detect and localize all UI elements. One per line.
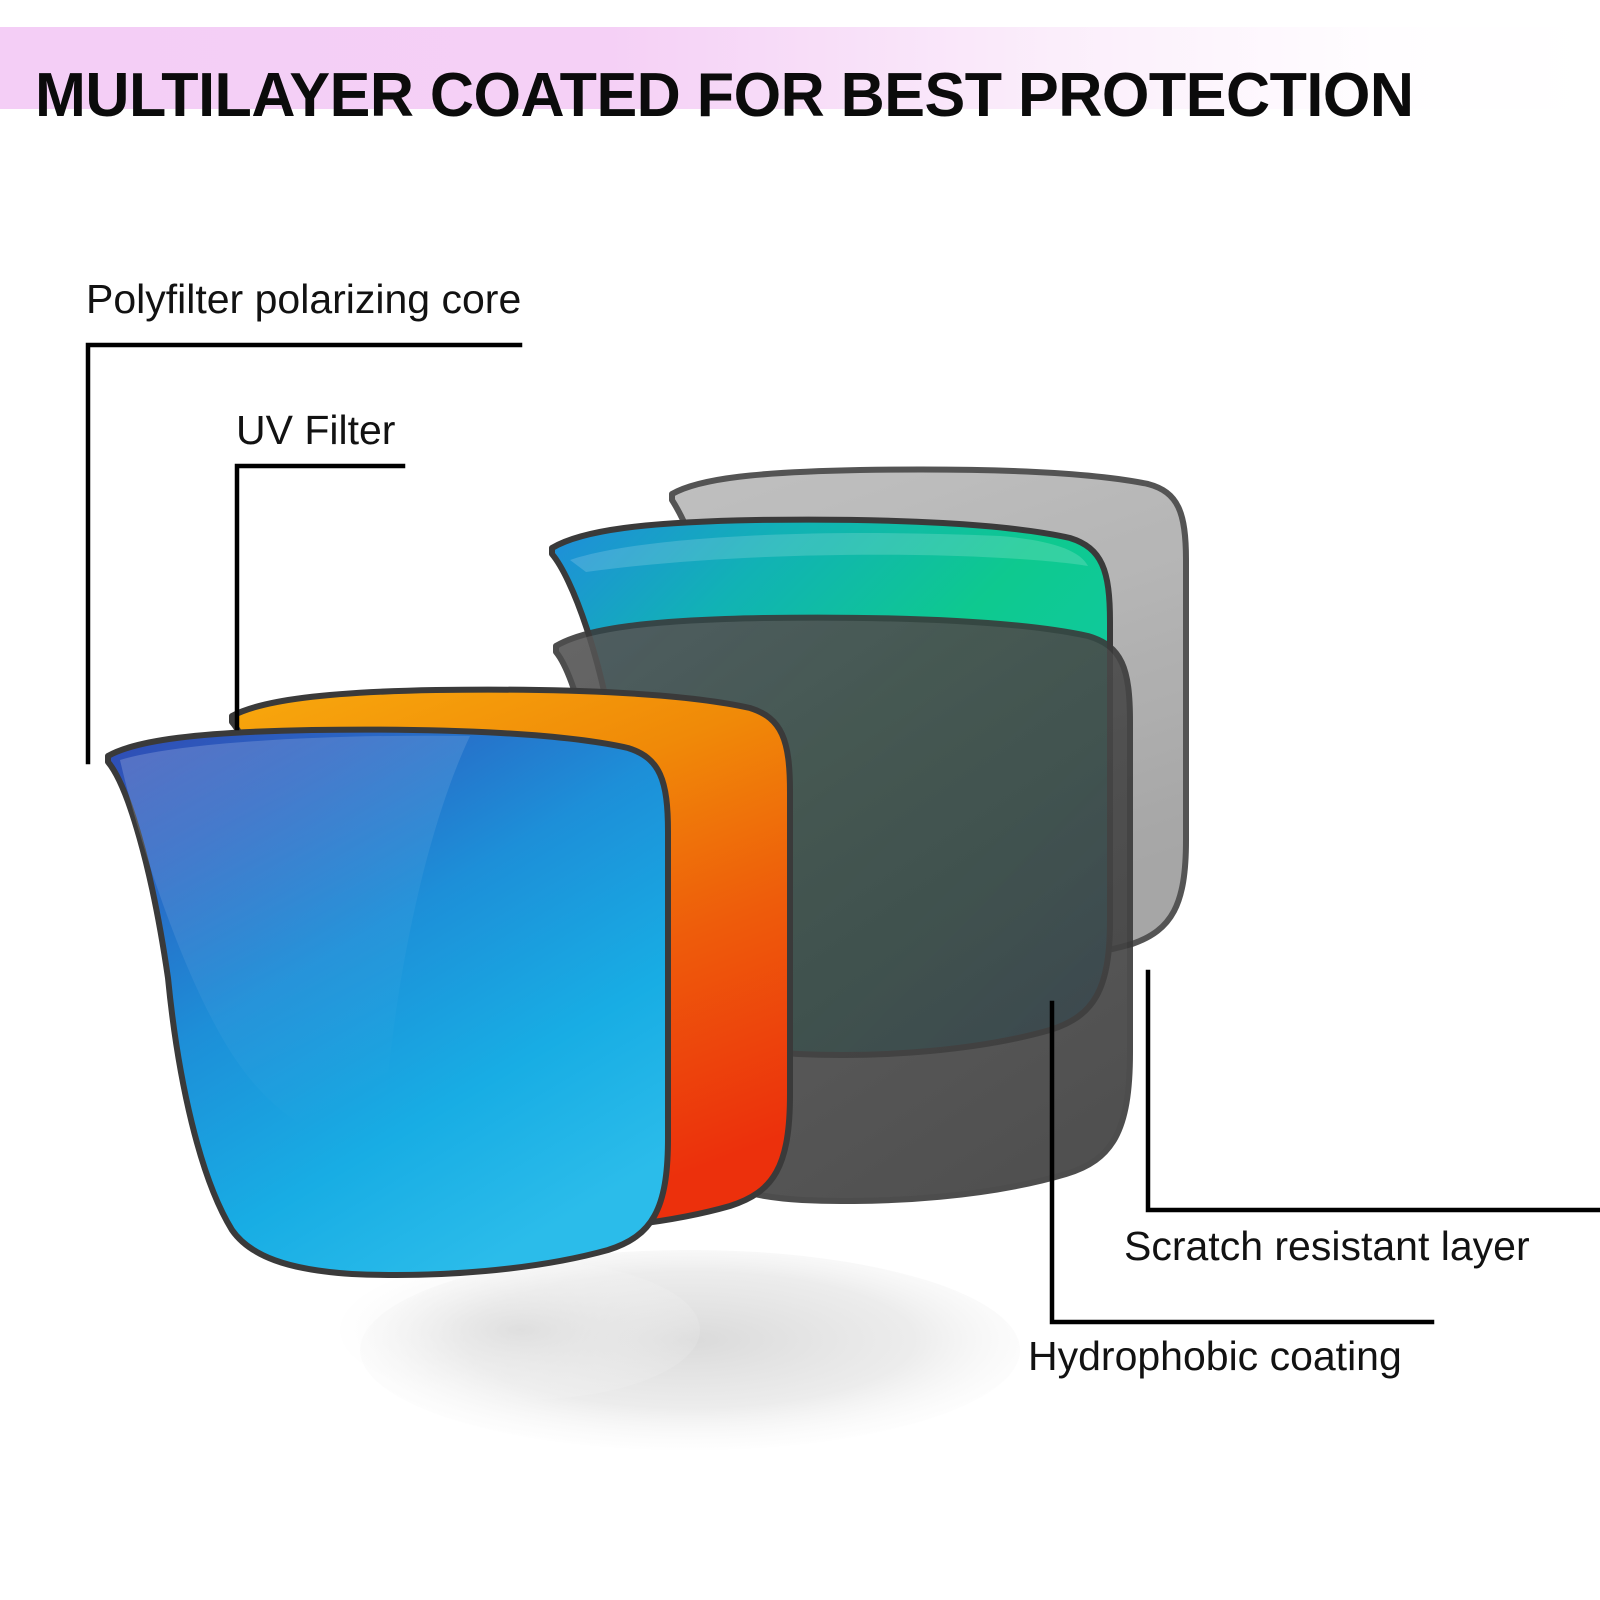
callout-label-polyfilter: Polyfilter polarizing core — [86, 275, 521, 323]
callout-label-scratch-resistant: Scratch resistant layer — [1124, 1222, 1530, 1270]
lens-layer-blue-mirror — [108, 730, 668, 1275]
stack-shadow — [340, 1250, 1020, 1450]
callout-label-uv-filter: UV Filter — [236, 406, 395, 454]
leader-line-uv-filter — [237, 466, 403, 728]
callout-label-hydrophobic: Hydrophobic coating — [1028, 1332, 1402, 1380]
leader-line-scratch — [1148, 972, 1600, 1210]
illustration-canvas: MULTILAYER COATED FOR BEST PROTECTION — [0, 0, 1600, 1600]
